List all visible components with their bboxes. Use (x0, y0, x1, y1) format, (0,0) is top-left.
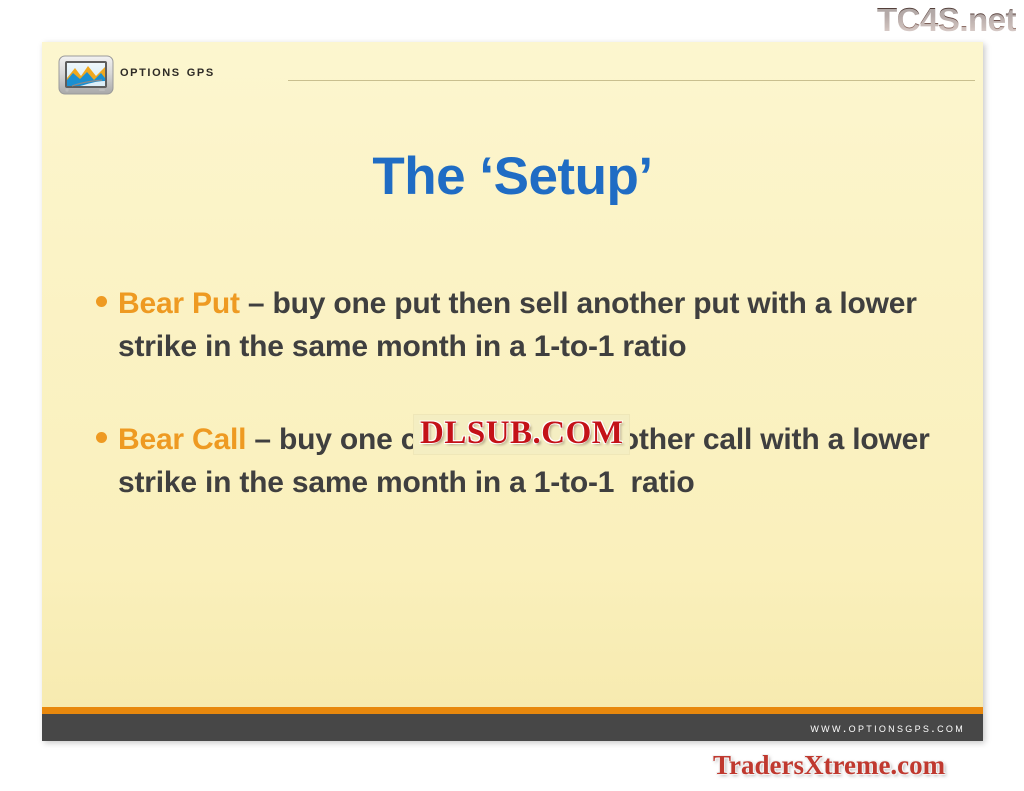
slide-canvas: Options GPS The ‘Setup’ Bear Put – buy o… (42, 42, 983, 741)
bullet-term: Bear Call (118, 423, 246, 456)
bullet-item: Bear Put – buy one put then sell another… (96, 282, 946, 368)
slide-header: Options GPS (42, 42, 983, 100)
bullet-body: – buy one put then sell another put with… (118, 287, 925, 363)
slide-body: Bear Put – buy one put then sell another… (96, 282, 946, 554)
brand-name-label: Options GPS (120, 63, 215, 81)
tc4s-watermark: TC4S.net (877, 2, 1016, 38)
slide-title: The ‘Setup’ (42, 146, 983, 208)
header-divider (288, 80, 975, 81)
gps-device-icon (58, 54, 114, 96)
bullet-text: Bear Put – buy one put then sell another… (118, 282, 946, 368)
footer-url-label: www.OptionsGPS.com (810, 720, 965, 735)
slide-footer: www.OptionsGPS.com (42, 714, 983, 741)
tradersxtreme-watermark: TradersXtreme.com (713, 750, 945, 780)
bullet-dot-icon (96, 418, 118, 443)
footer-accent-stripe (42, 707, 983, 714)
bullet-term: Bear Put (118, 287, 240, 320)
dlsub-watermark: DLSUB.COM (413, 414, 630, 455)
bullet-dot-icon (96, 282, 118, 307)
